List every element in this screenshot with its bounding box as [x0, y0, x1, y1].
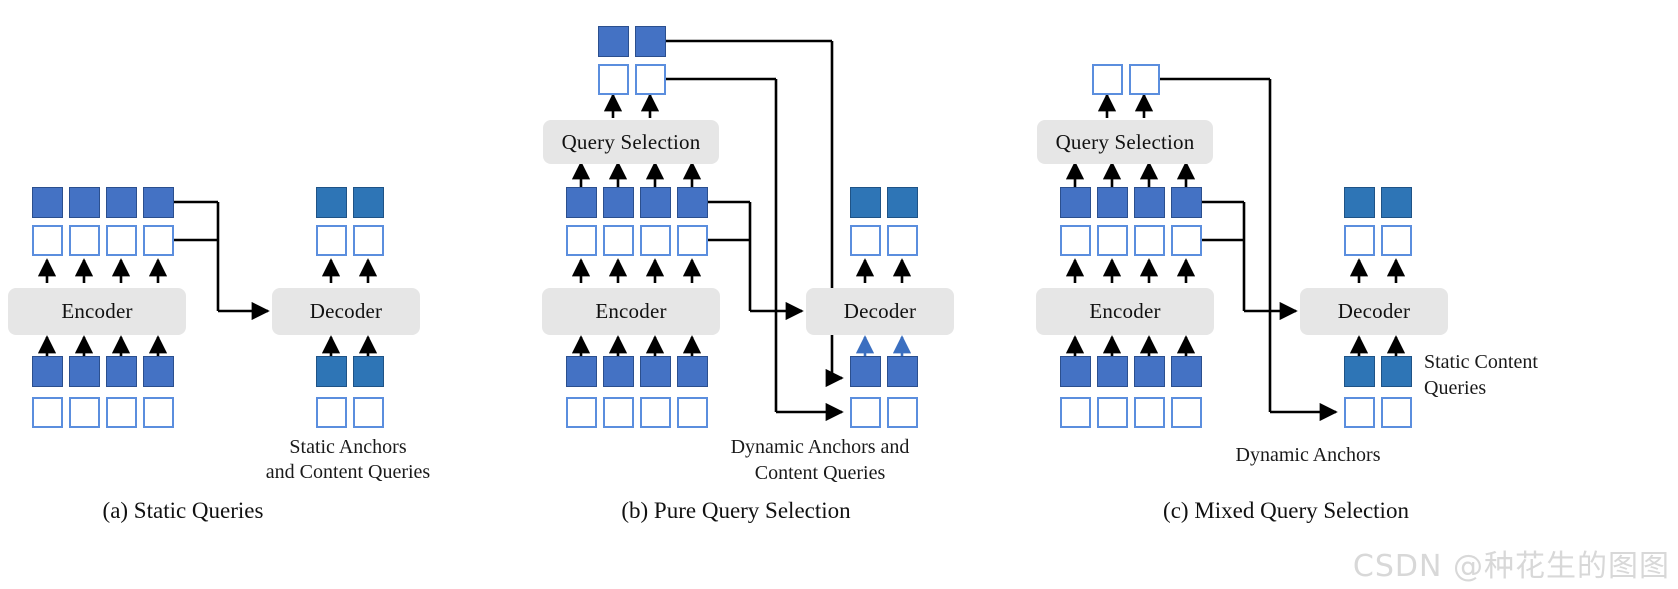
module-query-selection: Query Selection — [543, 120, 719, 164]
box-encoder-input-anchor — [106, 397, 137, 428]
box-encoder-output-anchor — [106, 225, 137, 256]
box-encoder-output-anchor — [143, 225, 174, 256]
module-decoder: Decoder — [1300, 288, 1448, 335]
box-decoder-output-content — [1344, 187, 1375, 218]
box-decoder-output-anchor — [850, 225, 881, 256]
box-encoder-output-content — [640, 187, 671, 218]
box-encoder-input-anchor — [1060, 397, 1091, 428]
box-encoder-input-anchor — [677, 397, 708, 428]
box-decoder-output-content — [1381, 187, 1412, 218]
module-encoder-label: Encoder — [595, 299, 666, 324]
module-decoder-label: Decoder — [844, 299, 917, 324]
box-decoder-output-content — [887, 187, 918, 218]
module-query-selection-label: Query Selection — [1056, 130, 1195, 155]
label-dynamic-anchors-content-line2: Content Queries — [755, 461, 886, 486]
box-decoder-input-static-content — [1344, 356, 1375, 387]
box-encoder-input-content — [143, 356, 174, 387]
box-encoder-input-content — [1060, 356, 1091, 387]
box-decoder-output-anchor — [1344, 225, 1375, 256]
box-decoder-input-dynamic-anchors — [1381, 397, 1412, 428]
box-encoder-input-anchor — [1134, 397, 1165, 428]
box-encoder-output-anchor — [69, 225, 100, 256]
box-encoder-output-content — [1060, 187, 1091, 218]
box-encoder-input-content — [566, 356, 597, 387]
box-encoder-output-anchor — [566, 225, 597, 256]
box-decoder-input-dynamic-content — [850, 356, 881, 387]
module-encoder: Encoder — [1036, 288, 1214, 335]
box-encoder-output-anchor — [1097, 225, 1128, 256]
box-encoder-input-content — [1171, 356, 1202, 387]
box-encoder-input-anchor — [1171, 397, 1202, 428]
box-decoder-input-static-anchors — [353, 397, 384, 428]
box-encoder-output-anchor — [677, 225, 708, 256]
box-encoder-output-anchor — [32, 225, 63, 256]
box-encoder-input-content — [106, 356, 137, 387]
box-encoder-input-content — [1134, 356, 1165, 387]
label-dynamic-anchors-content-line1: Dynamic Anchors and — [731, 435, 910, 460]
box-encoder-output-anchor — [1134, 225, 1165, 256]
box-decoder-output-anchor — [1381, 225, 1412, 256]
label-dynamic-anchors: Dynamic Anchors — [1236, 443, 1381, 468]
box-encoder-input-anchor — [32, 397, 63, 428]
box-encoder-output-anchor — [640, 225, 671, 256]
figure-canvas: Encoder Decoder Static Anchors and Conte… — [0, 0, 1678, 589]
box-decoder-input-content-queries — [316, 356, 347, 387]
box-decoder-output-content — [316, 187, 347, 218]
box-query-selection-output-content — [635, 26, 666, 57]
label-static-anchors-line1: Static Anchors — [289, 435, 406, 460]
box-encoder-input-content — [69, 356, 100, 387]
caption-panel-b: (b) Pure Query Selection — [621, 498, 850, 524]
box-encoder-input-content — [640, 356, 671, 387]
csdn-watermark: CSDN @种花生的图图 — [1353, 541, 1670, 585]
box-encoder-output-content — [106, 187, 137, 218]
box-decoder-output-content — [850, 187, 881, 218]
box-encoder-input-anchor — [566, 397, 597, 428]
module-encoder-label: Encoder — [1089, 299, 1160, 324]
box-encoder-output-content — [143, 187, 174, 218]
box-encoder-input-content — [32, 356, 63, 387]
box-encoder-output-anchor — [603, 225, 634, 256]
module-decoder-label: Decoder — [310, 299, 383, 324]
box-decoder-output-anchor — [887, 225, 918, 256]
box-query-selection-output-anchor — [1129, 64, 1160, 95]
box-query-selection-output-anchor — [1092, 64, 1123, 95]
box-encoder-output-content — [32, 187, 63, 218]
box-query-selection-output-anchor — [635, 64, 666, 95]
module-decoder: Decoder — [272, 288, 420, 335]
box-decoder-input-static-content — [1381, 356, 1412, 387]
box-encoder-input-anchor — [603, 397, 634, 428]
module-decoder: Decoder — [806, 288, 954, 335]
module-encoder: Encoder — [542, 288, 720, 335]
box-encoder-input-anchor — [143, 397, 174, 428]
label-static-content-queries-line1: Static Content — [1424, 350, 1538, 375]
caption-panel-c: (c) Mixed Query Selection — [1163, 498, 1409, 524]
box-query-selection-output-content — [598, 26, 629, 57]
box-encoder-output-anchor — [1171, 225, 1202, 256]
box-encoder-input-anchor — [69, 397, 100, 428]
module-encoder: Encoder — [8, 288, 186, 335]
module-query-selection: Query Selection — [1037, 120, 1213, 164]
box-encoder-input-content — [1097, 356, 1128, 387]
box-encoder-output-anchor — [1060, 225, 1091, 256]
box-decoder-input-content-queries — [353, 356, 384, 387]
box-encoder-output-content — [69, 187, 100, 218]
box-decoder-output-anchor — [316, 225, 347, 256]
box-encoder-output-content — [603, 187, 634, 218]
box-decoder-output-content — [353, 187, 384, 218]
module-query-selection-label: Query Selection — [562, 130, 701, 155]
box-decoder-output-anchor — [353, 225, 384, 256]
box-encoder-input-content — [603, 356, 634, 387]
box-decoder-input-static-anchors — [316, 397, 347, 428]
box-decoder-input-dynamic-anchors — [850, 397, 881, 428]
caption-panel-a: (a) Static Queries — [103, 498, 264, 524]
box-decoder-input-dynamic-content — [887, 356, 918, 387]
box-encoder-input-anchor — [1097, 397, 1128, 428]
label-static-content-queries-line2: Queries — [1424, 376, 1486, 401]
box-decoder-input-dynamic-anchors — [887, 397, 918, 428]
box-encoder-output-content — [1134, 187, 1165, 218]
box-decoder-input-dynamic-anchors — [1344, 397, 1375, 428]
module-decoder-label: Decoder — [1338, 299, 1411, 324]
module-encoder-label: Encoder — [61, 299, 132, 324]
box-encoder-output-content — [1171, 187, 1202, 218]
label-static-anchors-line2: and Content Queries — [266, 460, 430, 485]
box-encoder-output-content — [566, 187, 597, 218]
box-encoder-input-content — [677, 356, 708, 387]
box-query-selection-output-anchor — [598, 64, 629, 95]
box-encoder-input-anchor — [640, 397, 671, 428]
box-encoder-output-content — [1097, 187, 1128, 218]
box-encoder-output-content — [677, 187, 708, 218]
